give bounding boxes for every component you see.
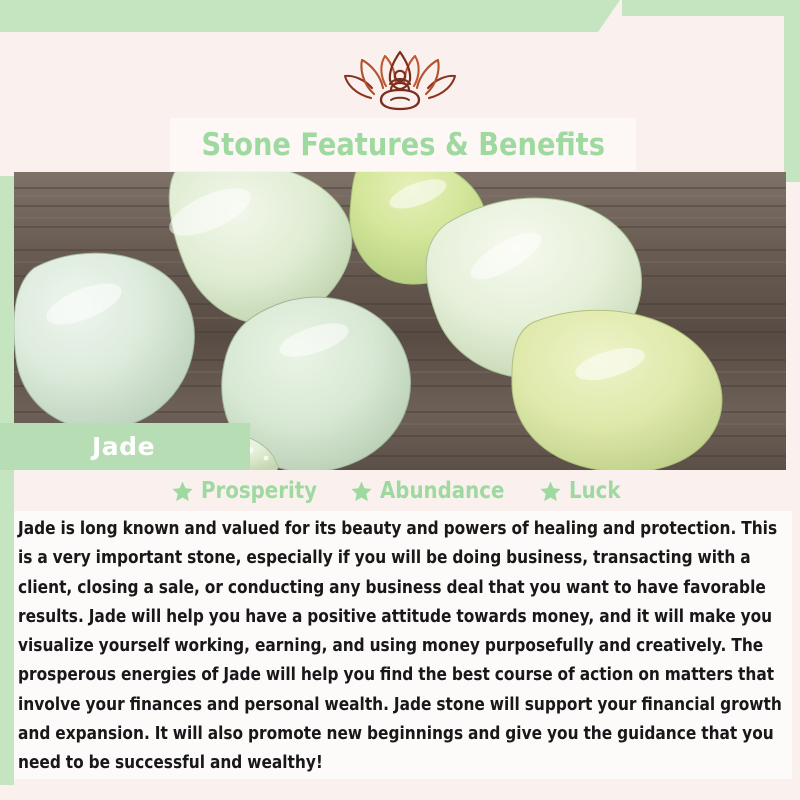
benefit-item-abundance: Abundance — [350, 478, 525, 504]
infographic-page: BUDDHA STONES Stone Features & Benefits — [0, 0, 800, 800]
benefit-label: Luck — [569, 478, 621, 504]
star-icon — [350, 480, 373, 503]
decorative-bar-bottom — [0, 0, 620, 32]
description-text: Jade is long known and valued for its be… — [18, 515, 782, 779]
star-icon — [539, 480, 562, 503]
stone-name-label: Jade — [92, 432, 155, 461]
page-title: Stone Features & Benefits — [201, 127, 604, 163]
benefit-label: Prosperity — [201, 478, 317, 504]
lotus-meditation-icon — [341, 50, 459, 112]
benefit-item-luck: Luck — [539, 478, 629, 504]
benefits-row: Prosperity Abundance Luck — [0, 478, 800, 504]
description-panel: Jade is long known and valued for its be… — [14, 511, 792, 779]
star-icon — [171, 480, 194, 503]
stone-name-chip: Jade — [0, 423, 250, 470]
decorative-bar-top-right — [622, 0, 800, 16]
benefit-item-prosperity: Prosperity — [171, 478, 336, 504]
benefit-label: Abundance — [380, 478, 504, 504]
decorative-bar-left — [0, 455, 14, 785]
title-banner: Stone Features & Benefits — [170, 118, 636, 171]
